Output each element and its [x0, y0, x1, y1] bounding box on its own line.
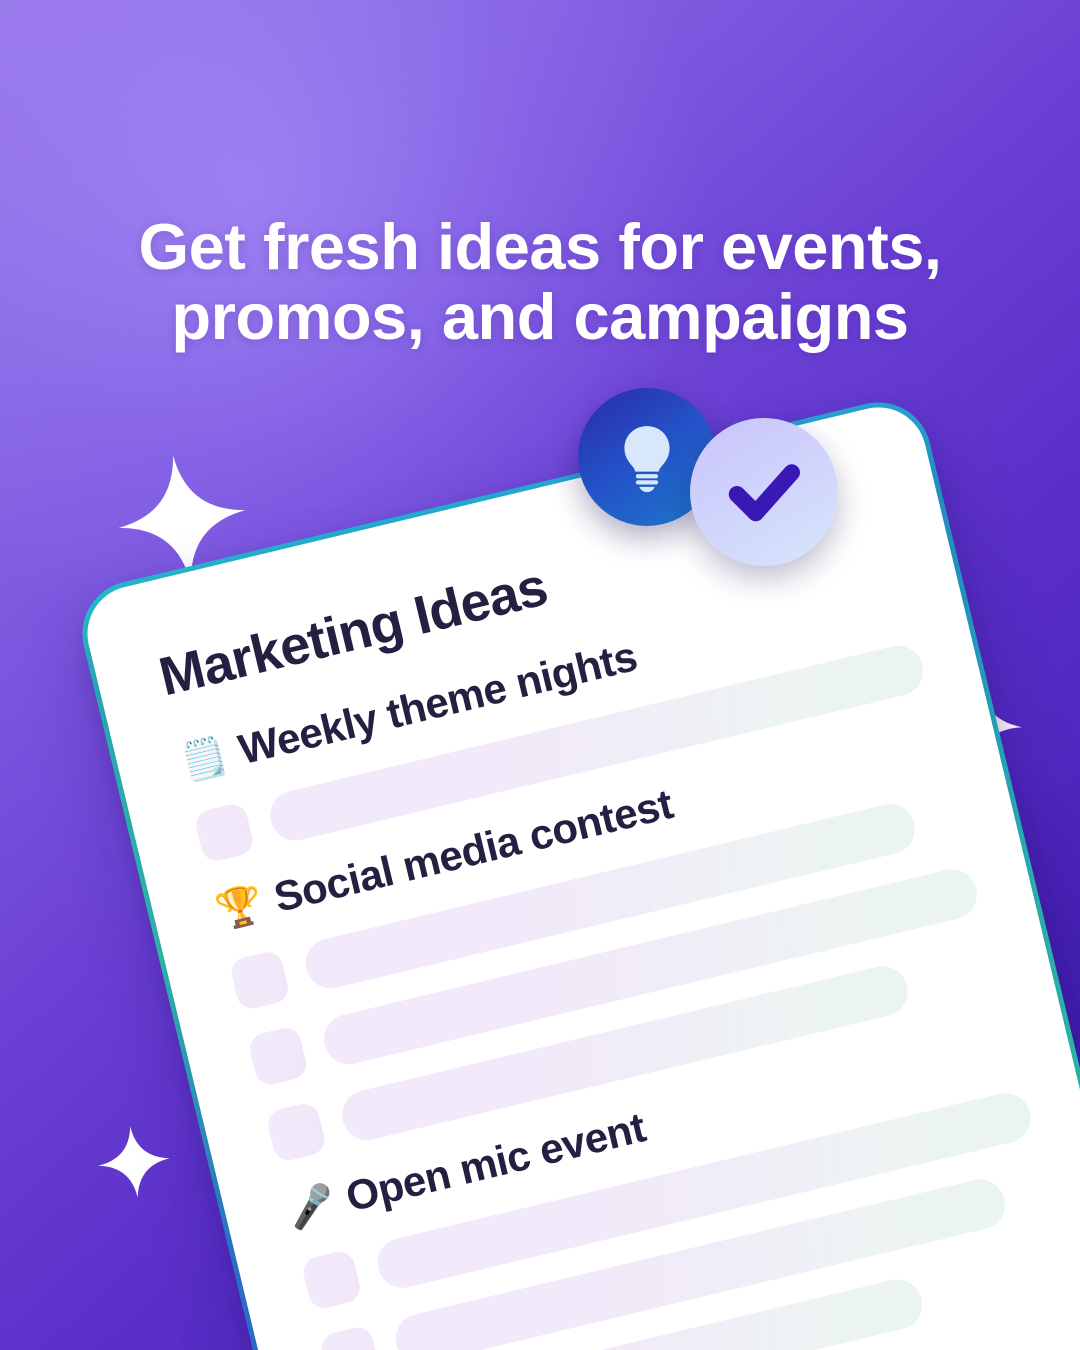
sparkle-icon [94, 1122, 173, 1201]
trophy-emoji: 🏆 [212, 884, 264, 931]
page-title: Get fresh ideas for events, promos, and … [0, 212, 1080, 352]
skeleton-chip [319, 1324, 382, 1350]
skeleton-chip [193, 801, 256, 864]
headline-line-1: Get fresh ideas for events, [60, 212, 1020, 282]
badge-cluster [578, 388, 840, 568]
skeleton-chip [247, 1025, 310, 1088]
checkmark-badge [690, 418, 838, 566]
headline-line-2: promos, and campaigns [60, 282, 1020, 352]
skeleton-chip [265, 1101, 328, 1164]
skeleton-chip [228, 949, 291, 1012]
skeleton-chip [300, 1249, 363, 1312]
lightbulb-icon [609, 419, 685, 495]
microphone-emoji: 🎤 [284, 1183, 336, 1230]
promo-graphic: Get fresh ideas for events, promos, and … [0, 0, 1080, 1350]
spiral-notepad-emoji: 🗒️ [177, 736, 229, 783]
check-icon [716, 444, 812, 540]
